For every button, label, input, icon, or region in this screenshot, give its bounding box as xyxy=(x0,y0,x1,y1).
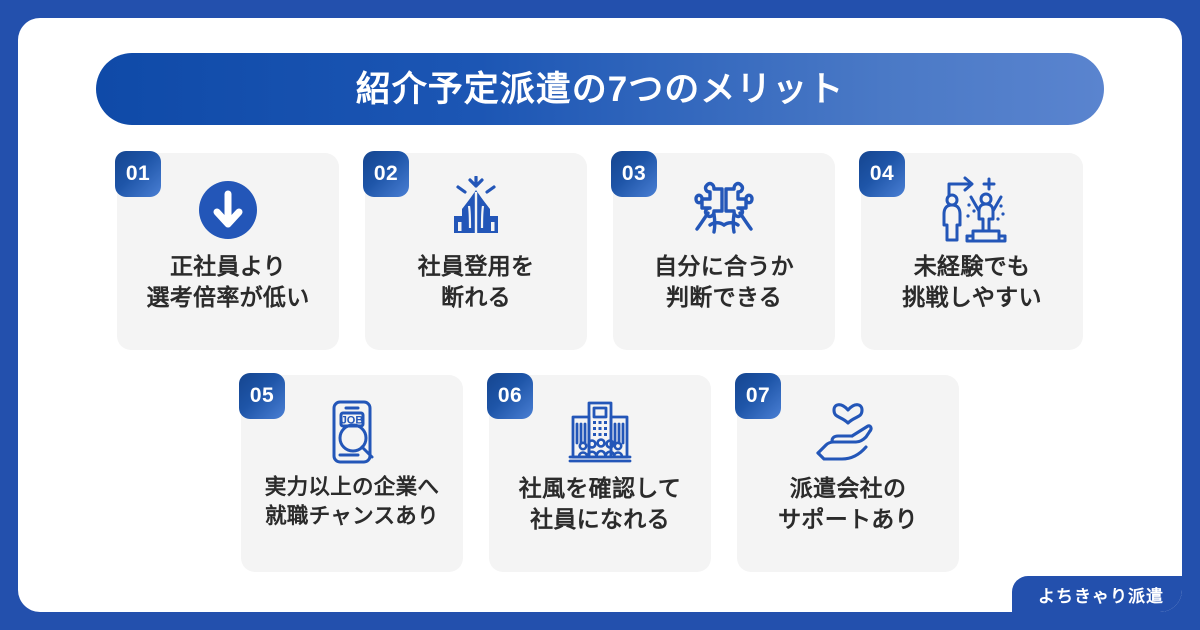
brand-logo: よちきゃり派遣 xyxy=(1012,576,1182,612)
card-number-badge: 05 xyxy=(239,373,285,419)
card-number-badge: 03 xyxy=(611,151,657,197)
benefit-label: 社員登用を 断れる xyxy=(418,251,535,312)
down-arrow-circle-icon xyxy=(197,167,259,253)
benefit-card-05[interactable]: 05 JOB 実力以上の企業へ 就職チャンスあり xyxy=(241,375,463,572)
benefit-label-line-1: 社員登用を xyxy=(418,251,535,282)
page-title: 紹介予定派遣の7つのメリット xyxy=(356,72,844,107)
card-number-badge: 04 xyxy=(859,151,905,197)
praying-hands-icon xyxy=(436,167,516,253)
benefit-label: 未経験でも 挑戦しやすい xyxy=(902,251,1042,312)
hand-heart-icon xyxy=(808,389,888,475)
benefit-label-line-2: 社員になれる xyxy=(519,504,681,535)
benefit-label-line-1: 派遣会社の xyxy=(778,473,918,504)
benefit-label-line-1: 実力以上の企業へ xyxy=(265,473,439,502)
card-number-badge: 07 xyxy=(735,373,781,419)
puzzle-pieces-icon xyxy=(684,167,764,253)
benefit-label-line-1: 正社員より xyxy=(146,251,309,282)
benefit-card-04[interactable]: 04 xyxy=(861,153,1083,350)
card-number-badge: 01 xyxy=(115,151,161,197)
benefit-label-line-2: 選考倍率が低い xyxy=(146,282,309,313)
benefit-label-line-1: 未経験でも xyxy=(902,251,1042,282)
card-number-badge: 06 xyxy=(487,373,533,419)
benefit-label-line-2: 断れる xyxy=(418,282,535,313)
benefit-label-line-2: 挑戦しやすい xyxy=(902,282,1042,313)
benefit-label-line-2: 判断できる xyxy=(654,282,794,313)
benefit-label: 自分に合うか 判断できる xyxy=(654,251,794,312)
benefit-card-01[interactable]: 01 正社員より 選考倍率が低い xyxy=(117,153,339,350)
svg-text:JOB: JOB xyxy=(341,415,364,427)
benefit-label: 社風を確認して 社員になれる xyxy=(519,473,681,534)
benefit-card-02[interactable]: 02 社員登用を 断れる xyxy=(365,153,587,350)
benefit-card-row-top: 01 正社員より 選考倍率が低い 02 xyxy=(18,153,1182,350)
office-building-people-icon xyxy=(560,389,640,475)
benefit-card-07[interactable]: 07 派遣会社の サポートあり xyxy=(737,375,959,572)
infographic-frame: 紹介予定派遣の7つのメリット 01 正社員より 選考倍率が低い 02 xyxy=(18,18,1182,612)
benefit-label: 派遣会社の サポートあり xyxy=(778,473,918,534)
benefit-label-line-1: 社風を確認して xyxy=(519,473,681,504)
benefit-label-line-1: 自分に合うか xyxy=(654,251,794,282)
benefit-card-row-bottom: 05 JOB 実力以上の企業へ 就職チャンスあり xyxy=(18,375,1182,572)
page-title-banner: 紹介予定派遣の7つのメリット xyxy=(96,53,1104,125)
brand-logo-text: よちきゃり派遣 xyxy=(1038,582,1164,607)
job-search-phone-icon: JOB xyxy=(316,389,388,475)
benefit-label-line-2: 就職チャンスあり xyxy=(265,502,439,531)
benefit-label: 実力以上の企業へ 就職チャンスあり xyxy=(265,473,439,530)
person-step-up-icon xyxy=(931,167,1013,253)
benefit-label: 正社員より 選考倍率が低い xyxy=(146,251,309,312)
benefit-card-06[interactable]: 06 xyxy=(489,375,711,572)
benefit-card-03[interactable]: 03 xyxy=(613,153,835,350)
card-number-badge: 02 xyxy=(363,151,409,197)
benefit-label-line-2: サポートあり xyxy=(778,504,918,535)
